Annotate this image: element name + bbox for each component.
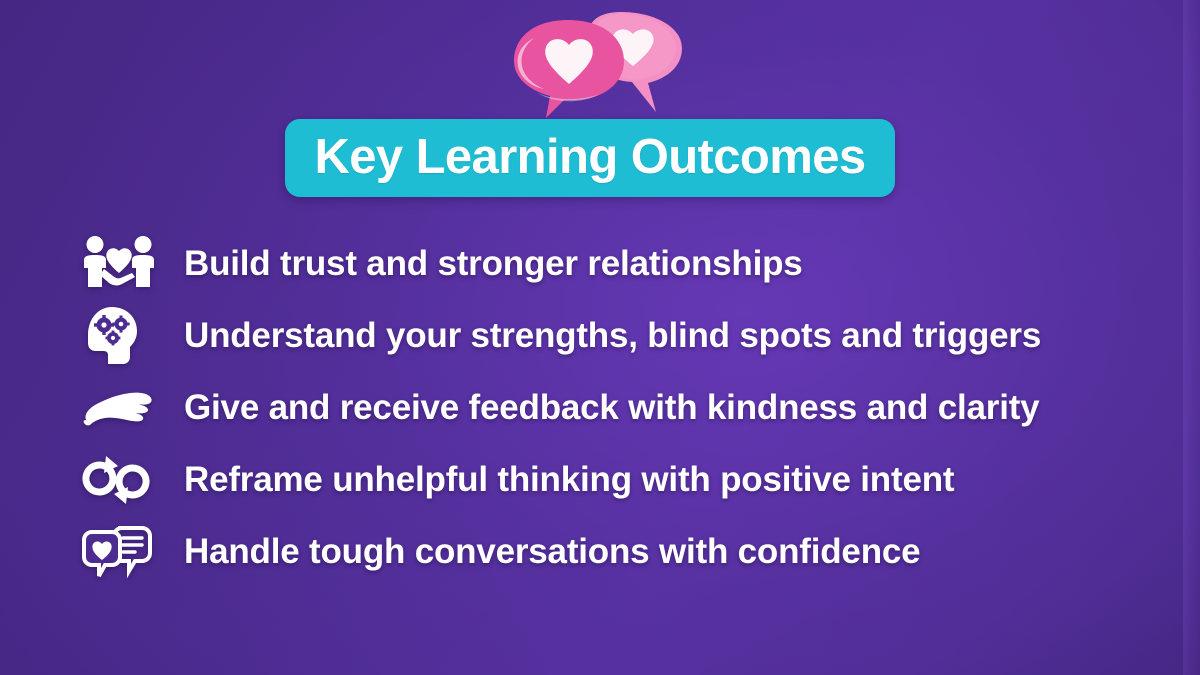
outcomes-list: Build trust and stronger relationships	[82, 228, 1142, 588]
cycle-arrows-icon	[82, 449, 160, 511]
list-item-label: Handle tough conversations with confiden…	[184, 534, 920, 571]
list-item: Understand your strengths, blind spots a…	[82, 300, 1142, 372]
background-accent-band	[1183, 0, 1200, 675]
list-item-label: Give and receive feedback with kindness …	[184, 390, 1039, 427]
list-item-label: Reframe unhelpful thinking with positive…	[184, 462, 954, 499]
page-title: Key Learning Outcomes	[314, 133, 865, 182]
slide-canvas: Key Learning Outcomes Build trust and st…	[0, 0, 1200, 675]
list-item: Give and receive feedback with kindness …	[82, 372, 1142, 444]
open-hand-icon	[82, 377, 160, 439]
list-item-label: Understand your strengths, blind spots a…	[184, 318, 1041, 355]
list-item: Reframe unhelpful thinking with positive…	[82, 444, 1142, 516]
list-item: Handle tough conversations with confiden…	[82, 516, 1142, 588]
list-item: Build trust and stronger relationships	[82, 228, 1142, 300]
handshake-heart-icon	[82, 233, 160, 295]
page-title-badge: Key Learning Outcomes	[285, 119, 895, 197]
head-gears-icon	[82, 305, 160, 367]
logo-front-bubble	[514, 20, 624, 118]
heart-speech-bubbles-logo	[506, 8, 694, 120]
chat-bubbles-heart-icon	[82, 521, 160, 583]
list-item-label: Build trust and stronger relationships	[184, 246, 803, 283]
